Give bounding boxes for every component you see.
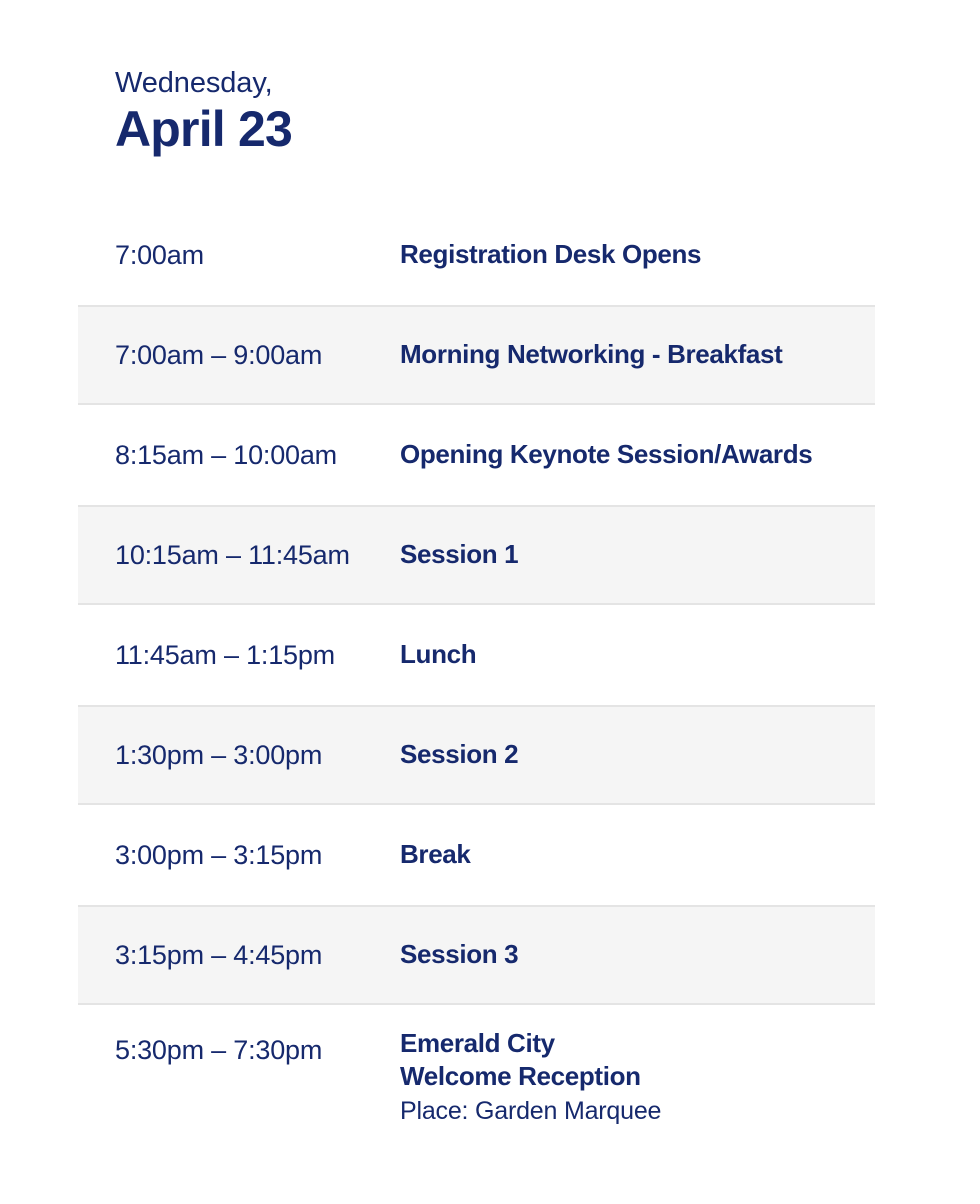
schedule-row-title-line1: Lunch: [400, 638, 875, 671]
schedule-row: 3:00pm – 3:15pmBreak: [78, 805, 875, 905]
header-weekday: Wednesday,: [115, 66, 292, 100]
schedule-row: 11:45am – 1:15pmLunch: [78, 605, 875, 705]
schedule-row-time: 5:30pm – 7:30pm: [78, 1027, 363, 1066]
schedule-row-time: 11:45am – 1:15pm: [78, 640, 363, 671]
schedule-row: 5:30pm – 7:30pmEmerald CityWelcome Recep…: [78, 1005, 875, 1155]
schedule-row-title-line1: Registration Desk Opens: [400, 238, 875, 271]
schedule-row-time: 3:15pm – 4:45pm: [78, 940, 363, 971]
schedule-row: 1:30pm – 3:00pmSession 2: [78, 705, 875, 805]
schedule-row-title: Morning Networking - Breakfast: [363, 338, 875, 371]
day-header: Wednesday, April 23: [115, 66, 292, 156]
schedule-row-title: Session 2: [363, 738, 875, 771]
schedule-row-time: 1:30pm – 3:00pm: [78, 740, 363, 771]
schedule-row: 3:15pm – 4:45pmSession 3: [78, 905, 875, 1005]
schedule-row-title-line1: Break: [400, 838, 875, 871]
header-date: April 23: [115, 102, 292, 156]
schedule-row-time: 3:00pm – 3:15pm: [78, 840, 363, 871]
schedule-row: 7:00am – 9:00amMorning Networking - Brea…: [78, 305, 875, 405]
schedule-row-title: Registration Desk Opens: [363, 238, 875, 271]
schedule-row-title-line1: Morning Networking - Breakfast: [400, 338, 875, 371]
schedule-row-title: Break: [363, 838, 875, 871]
schedule-row-title-line1: Opening Keynote Session/Awards: [400, 438, 875, 471]
schedule-row-title-line1: Session 1: [400, 538, 875, 571]
schedule-row-title-line2: Welcome Reception: [400, 1060, 875, 1093]
schedule-row-title-line1: Session 2: [400, 738, 875, 771]
schedule-table: 7:00amRegistration Desk Opens7:00am – 9:…: [78, 205, 875, 1155]
schedule-row-title-line1: Session 3: [400, 938, 875, 971]
schedule-row-title: Session 3: [363, 938, 875, 971]
schedule-row-title: Emerald CityWelcome ReceptionPlace: Gard…: [363, 1027, 875, 1127]
schedule-row-time: 7:00am: [78, 240, 363, 271]
schedule-row: 8:15am – 10:00amOpening Keynote Session/…: [78, 405, 875, 505]
schedule-row-time: 8:15am – 10:00am: [78, 440, 363, 471]
schedule-row-time: 10:15am – 11:45am: [78, 540, 363, 571]
schedule-row: 10:15am – 11:45amSession 1: [78, 505, 875, 605]
schedule-row-title-line1: Emerald City: [400, 1027, 875, 1060]
schedule-row-title: Session 1: [363, 538, 875, 571]
schedule-page: Wednesday, April 23 7:00amRegistration D…: [0, 0, 980, 1204]
schedule-row-title: Lunch: [363, 638, 875, 671]
schedule-row-time: 7:00am – 9:00am: [78, 340, 363, 371]
schedule-row-title: Opening Keynote Session/Awards: [363, 438, 875, 471]
schedule-row: 7:00amRegistration Desk Opens: [78, 205, 875, 305]
schedule-row-detail: Place: Garden Marquee: [400, 1095, 875, 1128]
